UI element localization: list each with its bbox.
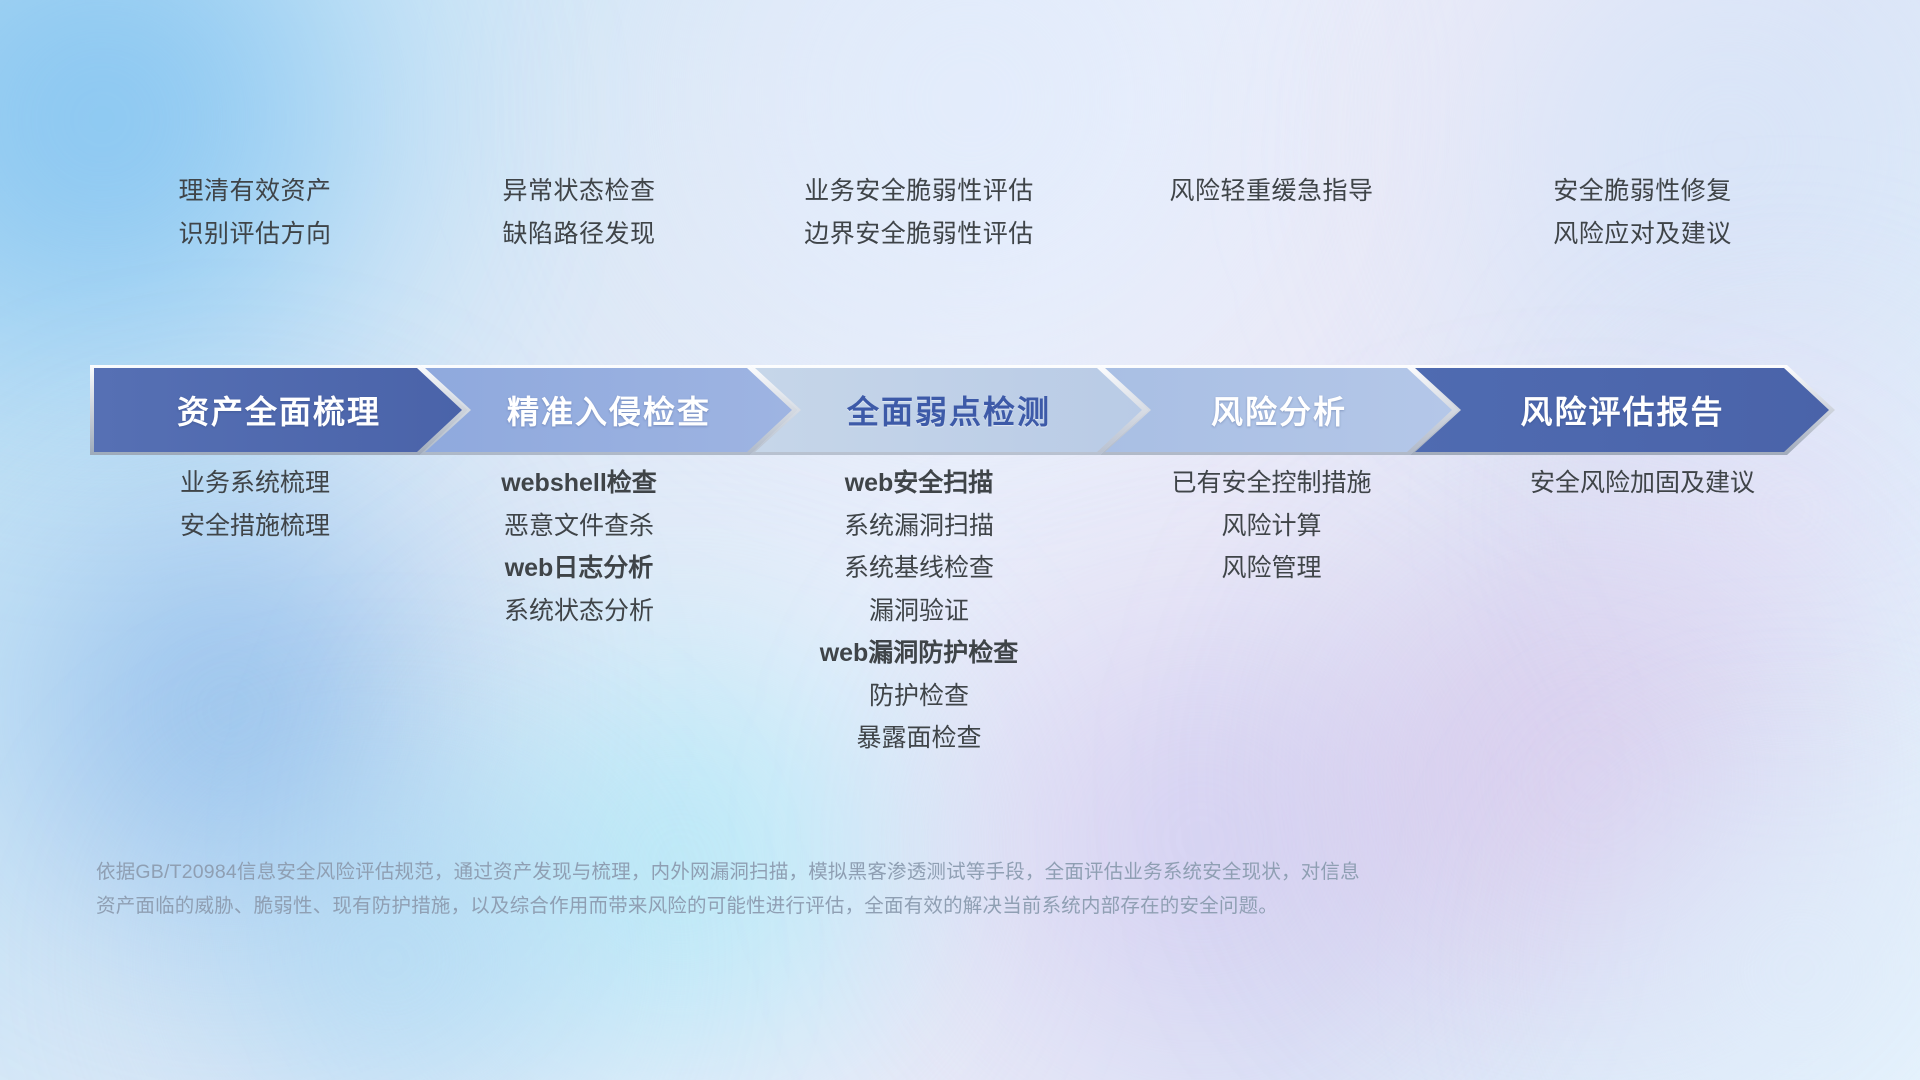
- list-item: web日志分析: [505, 555, 654, 583]
- bottom-col-2: webshell检查 恶意文件查杀 web日志分析 系统状态分析: [414, 470, 744, 753]
- list-item: 风险计算: [1221, 513, 1321, 541]
- list-item: 已有安全控制措施: [1171, 470, 1371, 498]
- top-item: 缺陷路径发现: [502, 221, 655, 247]
- top-item: 风险应对及建议: [1553, 221, 1732, 247]
- list-item: web漏洞防护检查: [820, 640, 1019, 668]
- footer-description: 依据GB/T20984信息安全风险评估规范，通过资产发现与梳理，内外网漏洞扫描，…: [96, 855, 1696, 923]
- list-item: 恶意文件查杀: [504, 513, 654, 541]
- chevron-label: 全面弱点检测: [847, 387, 1051, 433]
- top-labels-row: 理清有效资产 识别评估方向 异常状态检查 缺陷路径发现 业务安全脆弱性评估 边界…: [96, 178, 1836, 248]
- list-item: 业务系统梳理: [180, 470, 330, 498]
- list-item: 暴露面检查: [856, 725, 981, 753]
- bottom-col-4: 已有安全控制措施 风险计算 风险管理: [1094, 470, 1449, 753]
- chevron-label: 风险分析: [1211, 387, 1347, 433]
- top-item: 风险轻重缓急指导: [1169, 178, 1373, 204]
- top-item: 业务安全脆弱性评估: [804, 178, 1034, 204]
- top-col-4: 风险轻重缓急指导: [1094, 178, 1449, 248]
- top-item: 异常状态检查: [502, 178, 655, 204]
- list-item: webshell检查: [501, 470, 657, 498]
- infographic-root: 理清有效资产 识别评估方向 异常状态检查 缺陷路径发现 业务安全脆弱性评估 边界…: [0, 0, 1920, 1080]
- chevron-label: 资产全面梳理: [177, 387, 381, 433]
- top-item: 识别评估方向: [178, 221, 331, 247]
- process-chevron-band: 资产全面梳理 精准入侵检查: [90, 365, 1835, 455]
- top-col-3: 业务安全脆弱性评估 边界安全脆弱性评估: [744, 178, 1094, 248]
- bottom-col-5: 安全风险加固及建议: [1449, 470, 1836, 753]
- list-item: 系统基线检查: [844, 555, 994, 583]
- list-item: 漏洞验证: [869, 598, 969, 626]
- bottom-col-1: 业务系统梳理 安全措施梳理: [96, 470, 414, 753]
- chevron-label: 精准入侵检查: [507, 387, 711, 433]
- footer-line-2: 资产面临的威胁、脆弱性、现有防护措施，以及综合作用而带来风险的可能性进行评估，全…: [96, 889, 1696, 923]
- top-item: 边界安全脆弱性评估: [804, 221, 1034, 247]
- footer-line-1: 依据GB/T20984信息安全风险评估规范，通过资产发现与梳理，内外网漏洞扫描，…: [96, 855, 1696, 889]
- top-item: 理清有效资产: [178, 178, 331, 204]
- bottom-col-3: web安全扫描 系统漏洞扫描 系统基线检查 漏洞验证 web漏洞防护检查 防护检…: [744, 470, 1094, 753]
- list-item: 系统状态分析: [504, 598, 654, 626]
- chevron-stage-2[interactable]: 精准入侵检查: [420, 365, 798, 455]
- chevron-stage-1[interactable]: 资产全面梳理: [90, 365, 468, 455]
- list-item: 安全措施梳理: [180, 513, 330, 541]
- list-item: 系统漏洞扫描: [844, 513, 994, 541]
- top-col-1: 理清有效资产 识别评估方向: [96, 178, 414, 248]
- top-item: 安全脆弱性修复: [1553, 178, 1732, 204]
- chevron-stage-5[interactable]: 风险评估报告: [1410, 365, 1835, 455]
- chevron-label: 风险评估报告: [1520, 387, 1724, 433]
- chevron-stage-4[interactable]: 风险分析: [1100, 365, 1458, 455]
- list-item: 安全风险加固及建议: [1530, 470, 1755, 498]
- top-col-2: 异常状态检查 缺陷路径发现: [414, 178, 744, 248]
- bottom-lists-row: 业务系统梳理 安全措施梳理 webshell检查 恶意文件查杀 web日志分析 …: [96, 470, 1836, 753]
- list-item: 防护检查: [869, 683, 969, 711]
- list-item: web安全扫描: [845, 470, 994, 498]
- chevron-stage-3[interactable]: 全面弱点检测: [750, 365, 1148, 455]
- list-item: 风险管理: [1221, 555, 1321, 583]
- top-col-5: 安全脆弱性修复 风险应对及建议: [1449, 178, 1836, 248]
